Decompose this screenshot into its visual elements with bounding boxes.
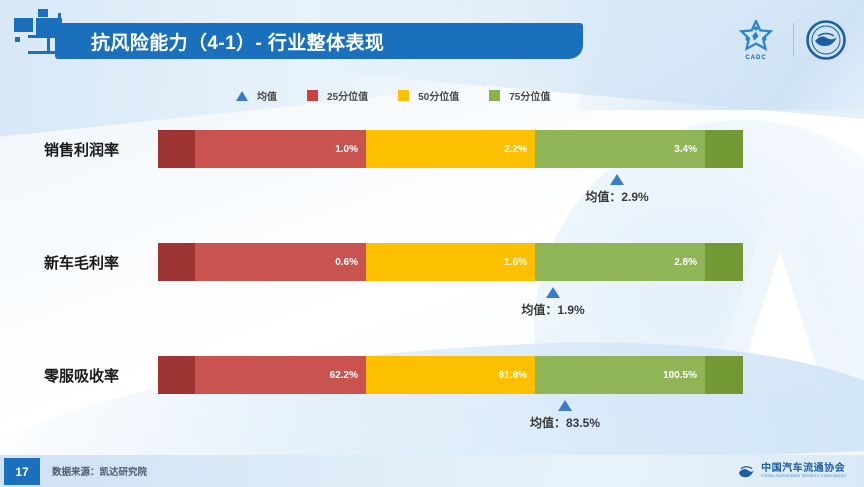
legend-item-mean: 均值 [236,88,277,103]
stacked-bar: 62.2% 81.8% 100.5% 均值：83.5% [158,356,743,394]
square-marker-icon [398,90,409,101]
stacked-bar: 0.6% 1.6% 2.8% 均值：1.9% [158,243,743,281]
stacked-bar: 1.0% 2.2% 3.4% 均值：2.9% [158,130,743,168]
bar-value-p25: 0.6% [335,257,358,268]
mean-marker-icon [610,174,624,185]
triangle-marker-icon [236,91,248,101]
bar-value-p50: 2.2% [504,144,527,155]
page-number: 17 [4,458,40,485]
square-marker-icon [489,90,500,101]
row-label: 销售利润率 [44,130,156,168]
bar-segment-p50: 81.8% [366,356,535,394]
chart-row: 销售利润率 1.0% 2.2% 3.4% 均值：2.9% [0,122,864,214]
bar-value-p25: 1.0% [335,144,358,155]
bar-segment-p25: 1.0% [195,130,366,168]
slide-header: 抗风险能力（4-1）- 行业整体表现 CADC [0,0,864,78]
chart-area: 销售利润率 1.0% 2.2% 3.4% 均值：2.9% 新车毛利率 0.6% [0,112,864,432]
legend-label: 50分位值 [418,88,459,103]
bar-value-p25: 62.2% [330,370,358,381]
bar-segment-tail [705,356,743,394]
legend-label: 25分位值 [327,88,368,103]
legend-item-p50: 50分位值 [398,88,459,103]
row-label: 新车毛利率 [44,243,156,281]
data-source-text: 数据来源：凯达研究院 [52,464,147,478]
mean-label: 均值：83.5% [530,414,600,431]
page-title: 抗风险能力（4-1）- 行业整体表现 [55,28,384,55]
header-logos: CADC [731,14,846,66]
cadc-logo: CADC [731,20,781,61]
bar-value-p50: 1.6% [504,257,527,268]
legend-item-p75: 75分位值 [489,88,550,103]
chart-legend: 均值 25分位值 50分位值 75分位值 [236,88,550,103]
cada-seal-icon [806,20,846,60]
bar-segment-base [158,130,195,168]
bar-segment-p50: 2.2% [366,130,535,168]
chart-row: 新车毛利率 0.6% 1.6% 2.8% 均值：1.9% [0,235,864,327]
bar-value-p75: 2.8% [674,257,697,268]
bar-segment-p25: 0.6% [195,243,366,281]
bar-segment-p25: 62.2% [195,356,366,394]
bar-segment-tail [705,243,743,281]
bar-segment-p50: 1.6% [366,243,535,281]
mean-marker-icon [558,400,572,411]
cada-logo-icon [737,462,756,481]
cadc-star-icon [737,20,775,54]
logo-divider [793,23,794,57]
bar-value-p75: 3.4% [674,144,697,155]
legend-item-p25: 25分位值 [307,88,368,103]
bar-segment-tail [705,130,743,168]
bar-value-p75: 100.5% [663,370,697,381]
cadc-logo-text: CADC [731,55,781,61]
square-marker-icon [307,90,318,101]
bar-segment-base [158,356,195,394]
mean-marker-icon [546,287,560,298]
footer-logo-en: China Automobile Dealers Association [761,474,846,479]
chart-row: 零服吸收率 62.2% 81.8% 100.5% 均值：83.5% [0,348,864,440]
row-label: 零服吸收率 [44,356,156,394]
title-bar: 抗风险能力（4-1）- 行业整体表现 [55,23,583,59]
bar-segment-p75: 100.5% [535,356,705,394]
bar-segment-p75: 2.8% [535,243,705,281]
bar-segment-base [158,243,195,281]
mean-label: 均值：2.9% [585,188,648,205]
legend-label: 均值 [257,88,277,103]
legend-label: 75分位值 [509,88,550,103]
footer-logo: 中国汽车流通协会 China Automobile Dealers Associ… [737,462,846,481]
slide-footer: 17 数据来源：凯达研究院 中国汽车流通协会 China Automobile … [0,455,864,487]
mean-label: 均值：1.9% [521,301,584,318]
bar-segment-p75: 3.4% [535,130,705,168]
bar-value-p50: 81.8% [499,370,527,381]
